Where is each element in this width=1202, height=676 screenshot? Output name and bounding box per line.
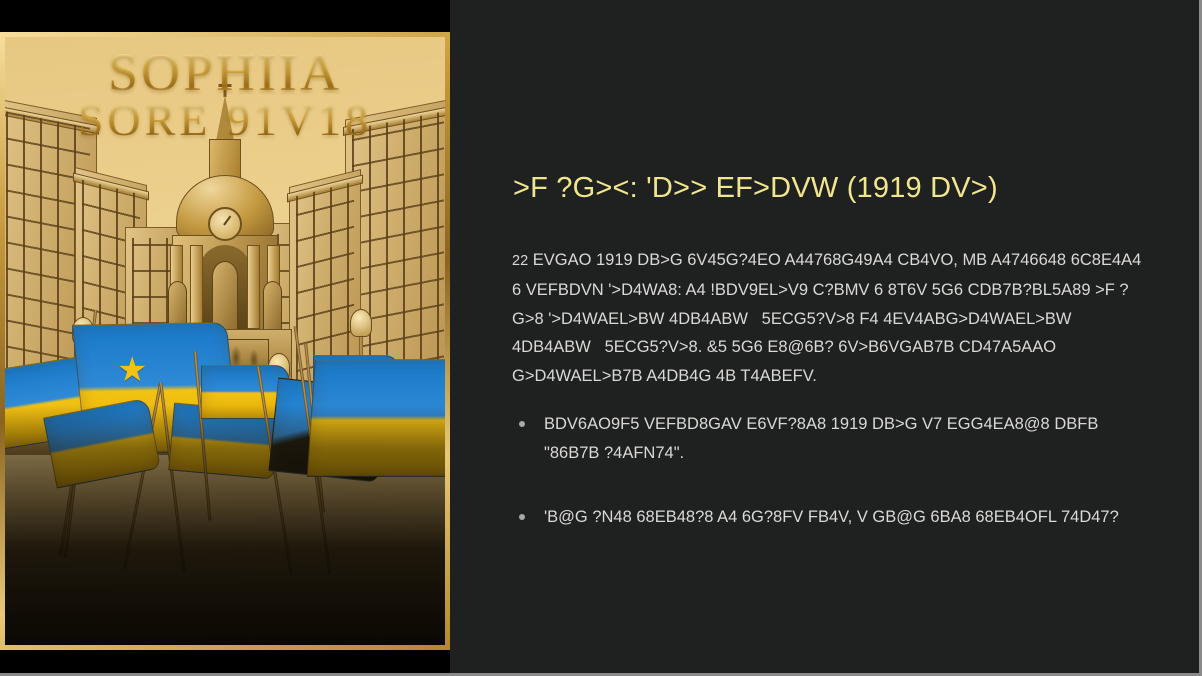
presentation-slide: ★ ★ xyxy=(0,0,1202,676)
paragraph-text: EVGAO 1919 DB>G 6V45G?4EO A44768G49A4 CB… xyxy=(512,251,1146,385)
slide-body-paragraph: 22 EVGAO 1919 DB>G 6V45G?4EO A44768G49A4… xyxy=(512,246,1142,391)
list-item: 'B@G ?N48 68EB48?8 A4 6G?8FV FB4V, V GB@… xyxy=(512,503,1152,532)
list-item-text: BDV6AO9F5 VEFBD8GAV E6VF?8A8 1919 DB>G V… xyxy=(544,415,1098,462)
slide-content-pane: >F ?G><: 'D>> EF>DVW (1919 DV>) 22 EVGAO… xyxy=(450,0,1199,673)
slide-bullet-list: BDV6AO9F5 VEFBD8GAV E6VF?8A8 1919 DB>G V… xyxy=(512,410,1152,566)
poster-artwork: ★ ★ xyxy=(5,37,445,645)
list-item-text: 'B@G ?N48 68EB48?8 A4 6G?8FV FB4V, V GB@… xyxy=(544,508,1119,526)
foreground-crowd xyxy=(5,405,445,645)
slide-title: >F ?G><: 'D>> EF>DVW (1919 DV>) xyxy=(513,172,1113,205)
slide-image-panel: ★ ★ xyxy=(0,0,450,676)
paragraph-lead-number: 22 xyxy=(512,253,528,269)
tower-spire xyxy=(216,95,234,141)
monument-statue xyxy=(263,281,282,331)
historical-poster-illustration: ★ ★ xyxy=(0,32,450,650)
list-item: BDV6AO9F5 VEFBD8GAV E6VF?8A8 1919 DB>G V… xyxy=(512,410,1152,468)
lamp-head-icon xyxy=(350,309,372,337)
bullet-dot-icon xyxy=(519,421,525,427)
clock-face-icon xyxy=(208,207,242,241)
star-icon: ★ xyxy=(117,353,147,387)
bullet-dot-icon xyxy=(519,514,525,520)
